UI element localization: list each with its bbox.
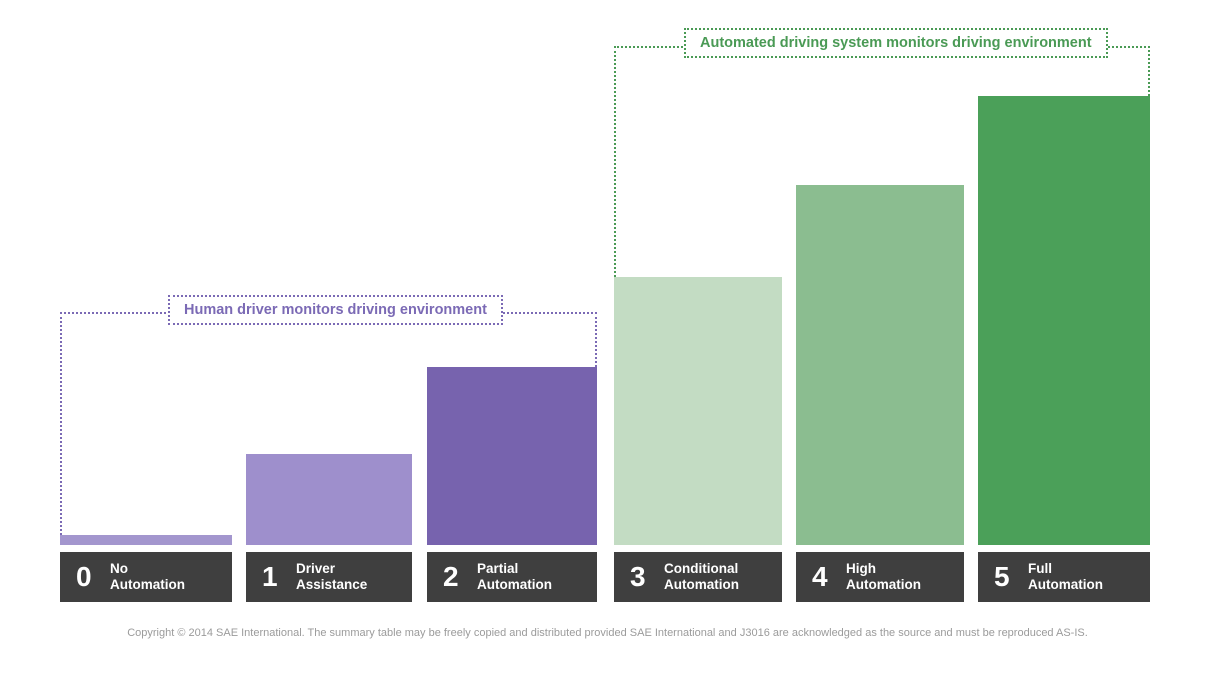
level-number-5: 5 [994, 563, 1028, 591]
bar-level-2 [427, 367, 597, 545]
bar-level-3 [614, 277, 782, 545]
level-name-4: High Automation [846, 561, 921, 593]
level-number-4: 4 [812, 563, 846, 591]
level-number-1: 1 [262, 563, 296, 591]
level-box-3: 3 Conditional Automation [614, 552, 782, 602]
level-name-1: Driver Assistance [296, 561, 367, 593]
sae-automation-levels-chart: Human driver monitors driving environmen… [0, 0, 1215, 686]
human-driver-bracket-left-line [60, 312, 62, 535]
bar-level-4 [796, 185, 964, 545]
level-box-4: 4 High Automation [796, 552, 964, 602]
level-number-2: 2 [443, 563, 477, 591]
level-name-2: Partial Automation [477, 561, 552, 593]
level-box-0: 0 No Automation [60, 552, 232, 602]
human-driver-bracket-top-line-right [487, 312, 597, 314]
bar-level-1 [246, 454, 412, 545]
level-number-0: 0 [76, 563, 110, 591]
level-box-5: 5 Full Automation [978, 552, 1150, 602]
level-name-0: No Automation [110, 561, 185, 593]
automated-system-annotation-label: Automated driving system monitors drivin… [684, 28, 1108, 58]
level-box-2: 2 Partial Automation [427, 552, 597, 602]
bar-level-5 [978, 96, 1150, 545]
level-name-5: Full Automation [1028, 561, 1103, 593]
copyright-notice: Copyright © 2014 SAE International. The … [0, 626, 1215, 641]
level-number-3: 3 [630, 563, 664, 591]
bar-level-0 [60, 535, 232, 545]
automated-system-bracket-right-line [1148, 46, 1150, 96]
level-box-1: 1 Driver Assistance [246, 552, 412, 602]
automated-system-bracket-left-line [614, 46, 616, 277]
automated-system-bracket-top-line [614, 46, 694, 48]
human-driver-bracket-right-line [595, 312, 597, 367]
level-name-3: Conditional Automation [664, 561, 739, 593]
human-driver-annotation-label: Human driver monitors driving environmen… [168, 295, 503, 325]
